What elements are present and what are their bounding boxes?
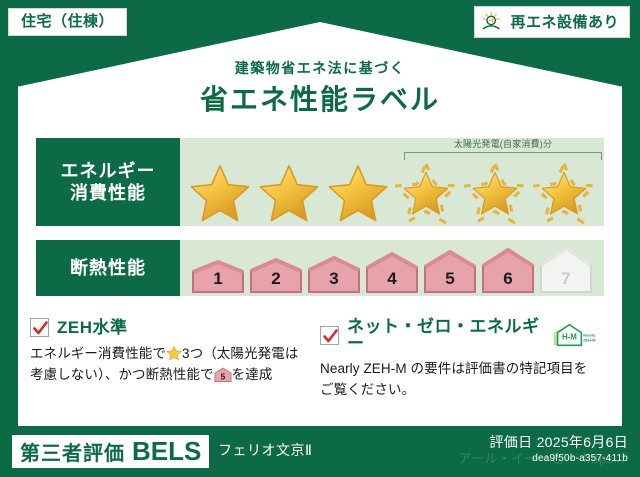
zeh-m-logo-icon: H-M Nearly ZEH-M [550,322,598,348]
insulation-performance-label: 断熱性能 [36,240,180,296]
footer-bar: 第三者評価 BELS フェリオ文京Ⅱ 評価日 2025年6月6日 dea9f50… [0,429,640,477]
solar-generation-bracket: 太陽光発電(自家消費)分 [404,140,602,160]
insulation-performance-row: 断熱性能 1 2 [36,240,604,296]
svg-text:H-M: H-M [562,333,577,342]
energy-performance-row: エネルギー 消費性能 太陽光発電(自家消費)分 [36,138,604,226]
criterion-nze-title: ネット・ゼロ・エネルギー [347,318,542,352]
criterion-zeh-text-1: エネルギー消費性能で [30,346,166,361]
criterion-nze-header: ネット・ゼロ・エネルギー H-M Nearly ZEH- [320,318,598,352]
label-subtitle: 建築物省エネ法に基づく [0,58,640,78]
insulation-level-6: 6 [480,247,536,293]
svg-text:ZEH-M: ZEH-M [583,337,596,342]
check-icon [30,318,49,337]
evaluation-id: dea9f50b-a357-411b [532,454,628,464]
criteria-section: ZEH水準 エネルギー消費性能で3つ（太陽光発電は考慮しない）、かつ断熱性能で5… [30,318,610,401]
insulation-level-5: 5 [422,249,478,293]
insulation-label-text: 断熱性能 [70,257,146,280]
check-icon [320,326,339,345]
star-solar-5 [464,162,526,224]
star-filled-1 [189,162,251,224]
housing-type-tag: 住宅（住棟） [8,8,127,36]
insulation-level-4-num: 4 [364,270,420,287]
inline-star-icon [166,345,182,361]
criterion-zeh-title: ZEH水準 [57,319,128,336]
solar-bracket-caption: 太陽光発電(自家消費)分 [404,140,602,150]
renewable-energy-badge: 再エネ設備あり [474,6,630,38]
bels-logo: 第三者評価 BELS [12,435,209,468]
energy-label-line2: 消費性能 [70,182,146,205]
criterion-nze-text: Nearly ZEH-M の要件は評価書の特記項目をご覧ください。 [320,359,598,401]
insulation-level-2-num: 2 [248,270,304,287]
insulation-level-2: 2 [248,257,304,293]
energy-stars-area: 太陽光発電(自家消費)分 [180,138,604,226]
star-solar-4 [395,162,457,224]
evaluation-date: 評価日 2025年6月6日 [489,435,628,449]
criterion-zeh: ZEH水準 エネルギー消費性能で3つ（太陽光発電は考慮しない）、かつ断熱性能で5… [30,318,320,401]
criterion-zeh-text-2: 3つ（太陽光発電 [182,346,285,361]
insulation-level-group: 1 2 3 [180,240,604,296]
solar-bracket-bar [404,152,602,160]
criterion-nze: ネット・ゼロ・エネルギー H-M Nearly ZEH- [320,318,610,401]
insulation-level-4: 4 [364,251,420,293]
insulation-level-3-num: 3 [306,270,362,287]
insulation-level-1-num: 1 [190,270,246,287]
energy-label-line1: エネルギー [61,160,156,183]
star-filled-3 [327,162,389,224]
bels-en-label: BELS [132,438,201,464]
energy-performance-label: エネルギー 消費性能 [36,138,180,226]
housing-type-label: 住宅（住棟） [21,13,114,30]
insulation-levels-area: 1 2 3 [180,240,604,296]
insulation-level-7: 7 [538,245,594,293]
criterion-zeh-header: ZEH水準 [30,318,308,337]
insulation-level-7-num: 7 [538,270,594,287]
sun-icon [481,11,505,33]
svg-text:5: 5 [220,371,225,381]
energy-label-card: 住宅（住棟） 再エネ設備あり 建築物省エネ法に基づく 省エネ性能ラベル [0,0,640,477]
insulation-level-6-num: 6 [480,270,536,287]
criterion-zeh-text-4: を達成 [232,367,273,382]
insulation-level-5-num: 5 [422,270,478,287]
renewable-badge-label: 再エネ設備あり [510,15,619,30]
insulation-level-3: 3 [306,255,362,293]
star-filled-2 [258,162,320,224]
inline-house-badge-icon: 5 [214,366,232,383]
star-solar-6 [533,162,595,224]
bels-jp-label: 第三者評価 [20,444,125,464]
label-title: 省エネ性能ラベル [0,78,640,118]
criterion-zeh-text: エネルギー消費性能で3つ（太陽光発電は考慮しない）、かつ断熱性能で5を達成 [30,344,308,386]
insulation-level-1: 1 [190,259,246,293]
building-name: フェリオ文京Ⅱ [218,443,312,457]
star-rating-group [180,162,604,224]
